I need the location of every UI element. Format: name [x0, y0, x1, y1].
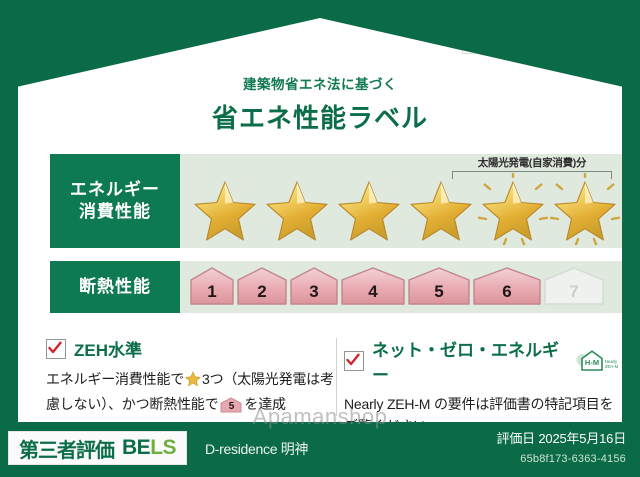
insulation-performance-body: 1 2 3 4 [180, 261, 626, 313]
energy-performance-row: エネルギー 消費性能 太陽光発電(自家消費)分 [50, 154, 626, 248]
renewable-equipment-label: 再エネ設備あり [497, 29, 599, 50]
evaluation-id: 65b8f173-6363-4156 [520, 453, 626, 465]
energy-performance-body: 太陽光発電(自家消費)分 [180, 154, 626, 248]
insulation-grade-value: 1 [207, 282, 216, 302]
solar-share-label: 太陽光発電(自家消費)分 [452, 155, 612, 170]
inline-grade-value: 5 [220, 399, 242, 415]
nze-title: ネット・ゼロ・エネルギー [372, 336, 562, 386]
building-name: D-residence 明神 [205, 439, 308, 459]
zeh-text-a: エネルギー消費性能で [46, 371, 184, 387]
bels-prefix-label: 第三者評価 [19, 434, 114, 463]
nze-checkbox [344, 351, 364, 371]
insulation-grade-badge: 6 [473, 266, 541, 306]
insulation-grade-badge: 2 [237, 266, 287, 306]
renewable-equipment-chip: 再エネ設備あり [462, 24, 614, 54]
svg-text:ZEH-M: ZEH-M [605, 364, 619, 369]
energy-star-solar [548, 173, 620, 245]
insulation-grade-scale: 1 2 3 4 [190, 265, 616, 307]
zeh-text-c: を達成 [244, 396, 285, 412]
energy-star [332, 173, 404, 245]
energy-performance-label: エネルギー 消費性能 [50, 154, 180, 248]
insulation-grade-badge: 4 [341, 266, 405, 306]
insulation-grade-badge: 5 [408, 266, 470, 306]
energy-star-rating [188, 172, 620, 245]
energy-star-solar [476, 173, 548, 245]
energy-star [188, 173, 260, 245]
bels-badge: 第三者評価 BELS [8, 431, 187, 465]
insulation-performance-label: 断熱性能 [50, 261, 180, 313]
insulation-grade-value: 6 [502, 282, 511, 302]
insulation-grade-value: 7 [569, 282, 578, 302]
zeh-description: エネルギー消費性能で3つ（太陽光発電は考慮しない）、かつ断熱性能で5を達成 [46, 369, 334, 415]
insulation-grade-value: 4 [368, 282, 377, 302]
title-subtitle: 建築物省エネ法に基づく [18, 73, 622, 93]
zeh-standard-panel: ZEH水準 エネルギー消費性能で3つ（太陽光発電は考慮しない）、かつ断熱性能で5… [46, 336, 334, 415]
insulation-grade-badge: 7 [544, 266, 604, 306]
insulation-performance-row: 断熱性能 1 2 3 [50, 261, 626, 313]
insulation-grade-badge: 3 [290, 266, 338, 306]
inline-grade-badge: 5 [220, 397, 242, 413]
insulation-grade-value: 3 [309, 282, 318, 302]
inline-star-icon [185, 371, 201, 394]
energy-star [260, 173, 332, 245]
nearly-zeh-m-logo-icon: H-M Nearly ZEH-M [574, 348, 624, 374]
evaluation-date: 評価日 2025年5月16日 [497, 428, 626, 447]
zeh-title: ZEH水準 [74, 336, 142, 361]
insulation-grade-value: 5 [434, 282, 443, 302]
title-block: 建築物省エネ法に基づく 省エネ性能ラベル [18, 73, 622, 135]
bels-logo-ls: LS [150, 436, 176, 459]
energy-star [404, 173, 476, 245]
housing-type-label: 住宅（住棟） [37, 31, 124, 52]
zeh-checkbox [46, 339, 66, 359]
column-divider [336, 338, 337, 416]
bels-logo-be: BE [122, 436, 150, 459]
housing-type-chip: 住宅（住棟） [26, 26, 136, 56]
page-title: 省エネ性能ラベル [18, 98, 622, 135]
label-root: 住宅（住棟） [0, 0, 640, 477]
insulation-grade-badge: 1 [190, 266, 234, 306]
white-house-panel: 住宅（住棟） [18, 18, 622, 422]
sun-icon [470, 27, 492, 52]
svg-text:H-M: H-M [585, 358, 599, 367]
bels-logo: BELS [122, 436, 176, 460]
footer: 第三者評価 BELS D-residence 明神 評価日 2025年5月16日… [0, 422, 640, 477]
insulation-grade-value: 2 [257, 282, 266, 302]
